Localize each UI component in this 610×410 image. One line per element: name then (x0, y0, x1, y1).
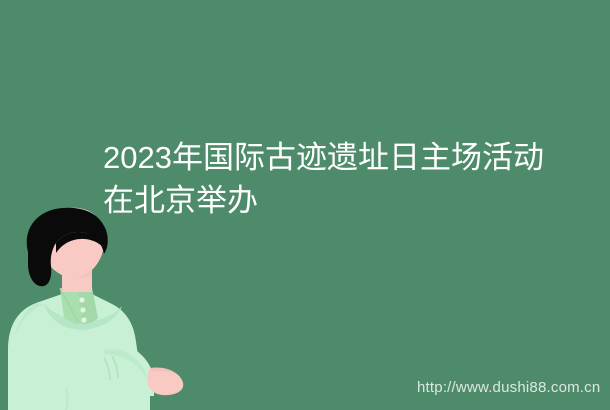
hand (148, 367, 184, 395)
page-title: 2023年国际古迹遗址日主场活动在北京举办 (103, 136, 551, 222)
person-pointing-right-illustration (0, 200, 200, 410)
arm-sleeve (100, 340, 154, 396)
watermark-url: http://www.dushi88.com.cn (417, 379, 600, 397)
image-canvas: 2023年国际古迹遗址日主场活动在北京举办 http://www.dushi88… (0, 0, 610, 410)
